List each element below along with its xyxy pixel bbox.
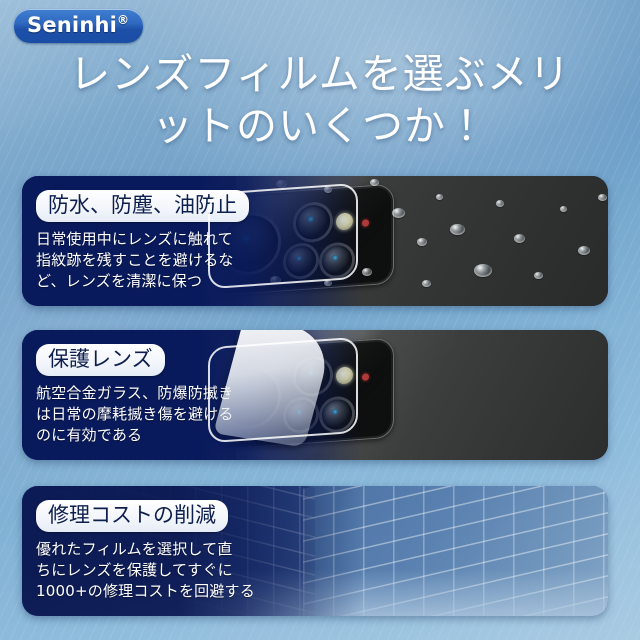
water-droplet [392,208,405,218]
headline-line-1: レンズフィルムを選ぶメリ [69,50,571,98]
feature-label-badge: 修理コストの削減 [36,500,228,532]
water-droplet [436,194,443,200]
brand-name: Seninhi [27,13,117,37]
water-droplet [578,246,590,255]
water-droplet [450,224,465,235]
feature-copy: 防水、防塵、油防止 日常使用中にレンズに触れて 指紋跡を残すことを避けるな ど、… [22,176,292,306]
feature-card-waterproof: 防水、防塵、油防止 日常使用中にレンズに触れて 指紋跡を残すことを避けるな ど、… [22,176,608,306]
water-droplet [417,238,427,246]
registered-trademark-icon: ® [117,13,129,27]
product-feature-poster: Seninhi® レンズフィルムを選ぶメリ ットのいくつか！ [0,0,640,640]
headline-line-2: ットのいくつか！ [26,100,614,152]
feature-copy: 修理コストの削減 優れたフィルムを選択して直 ちにレンズを保護してすぐに 100… [22,486,292,616]
brand-badge: Seninhi® [14,9,143,43]
water-droplet [514,234,525,243]
feature-description: 優れたフィルムを選択して直 ちにレンズを保護してすぐに 1000+の修理コストを… [36,539,282,602]
water-droplet [474,264,492,277]
page-title: レンズフィルムを選ぶメリ ットのいくつか！ [0,48,640,152]
water-droplet [496,200,504,207]
water-droplet [598,194,607,201]
feature-label-badge: 保護レンズ [36,344,165,376]
water-droplet [534,272,543,279]
water-droplet [560,206,567,212]
feature-card-protective-lens: 保護レンズ 航空合金ガラス、防爆防揻き は日常の摩耗揻き傷を避ける のに有効であ… [22,330,608,460]
feature-card-repair-cost: 修理コストの削減 優れたフィルムを選択して直 ちにレンズを保護してすぐに 100… [22,486,608,616]
feature-description: 日常使用中にレンズに触れて 指紋跡を残すことを避けるな ど、レンズを清潔に保つ [36,229,282,292]
water-droplet [422,280,431,287]
feature-label-badge: 防水、防塵、油防止 [36,190,249,222]
